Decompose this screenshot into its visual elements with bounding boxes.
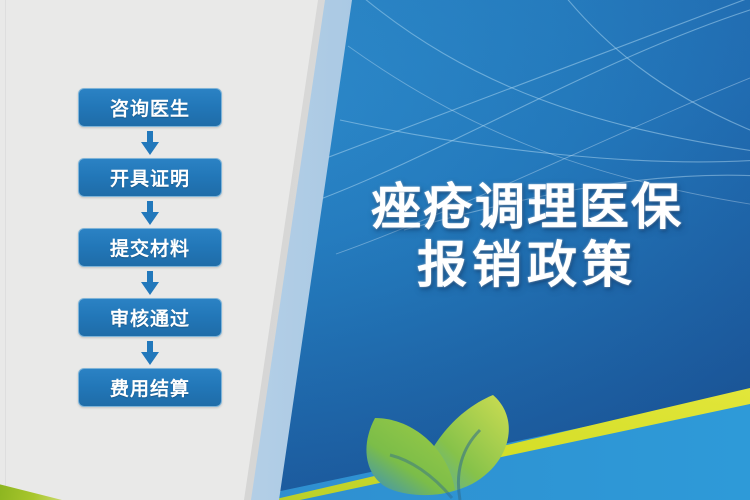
flow-step-4: 审核通过 [78, 298, 222, 337]
flow-arrow-1 [78, 127, 222, 158]
poster-title: 痤疮调理医保 报销政策 [318, 178, 736, 294]
arrow-down-icon [139, 200, 161, 226]
flow-arrow-2 [78, 197, 222, 228]
flow-arrow-3 [78, 267, 222, 298]
poster-title-line-1: 痤疮调理医保 [318, 178, 736, 236]
flow-step-2: 开具证明 [78, 158, 222, 197]
arrow-down-icon [139, 130, 161, 156]
flow-step-4-label: 审核通过 [110, 304, 190, 331]
poster-canvas: 痤疮调理医保 报销政策 咨询医生 开具证明 提交材料 [0, 0, 750, 500]
left-edge-hairline [5, 0, 6, 500]
poster-title-line-2: 报销政策 [318, 236, 736, 294]
flow-step-3-label: 提交材料 [110, 234, 190, 261]
flow-step-1: 咨询医生 [78, 88, 222, 127]
flow-step-1-label: 咨询医生 [110, 94, 190, 121]
process-flowchart: 咨询医生 开具证明 提交材料 审核通过 [78, 88, 222, 407]
flow-step-5-label: 费用结算 [110, 374, 190, 401]
flow-step-3: 提交材料 [78, 228, 222, 267]
flow-step-5: 费用结算 [78, 368, 222, 407]
flow-step-2-label: 开具证明 [110, 164, 190, 191]
flow-arrow-4 [78, 337, 222, 368]
arrow-down-icon [139, 270, 161, 296]
arrow-down-icon [139, 340, 161, 366]
